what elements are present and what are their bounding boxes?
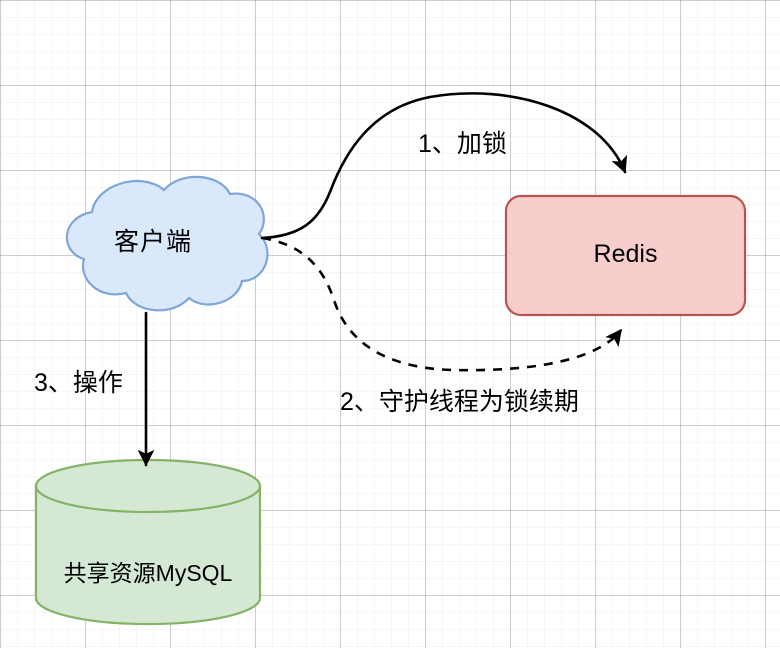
mysql-node-label: 共享资源MySQL bbox=[36, 554, 260, 588]
cylinder-top bbox=[36, 460, 260, 512]
client-node-label: 客户端 bbox=[42, 222, 264, 258]
diagram-shapes-layer bbox=[0, 0, 780, 648]
diagram-canvas: 客户端 Redis 共享资源MySQL 1、加锁 2、守护线程为锁续期 3、操作 bbox=[0, 0, 780, 648]
node-mysql[interactable] bbox=[36, 460, 260, 624]
edge-lock-label: 1、加锁 bbox=[418, 124, 507, 160]
edge-renew-label: 2、守护线程为锁续期 bbox=[340, 382, 579, 418]
redis-node-label: Redis bbox=[506, 240, 745, 269]
edge-operate-label: 3、操作 bbox=[34, 363, 123, 399]
